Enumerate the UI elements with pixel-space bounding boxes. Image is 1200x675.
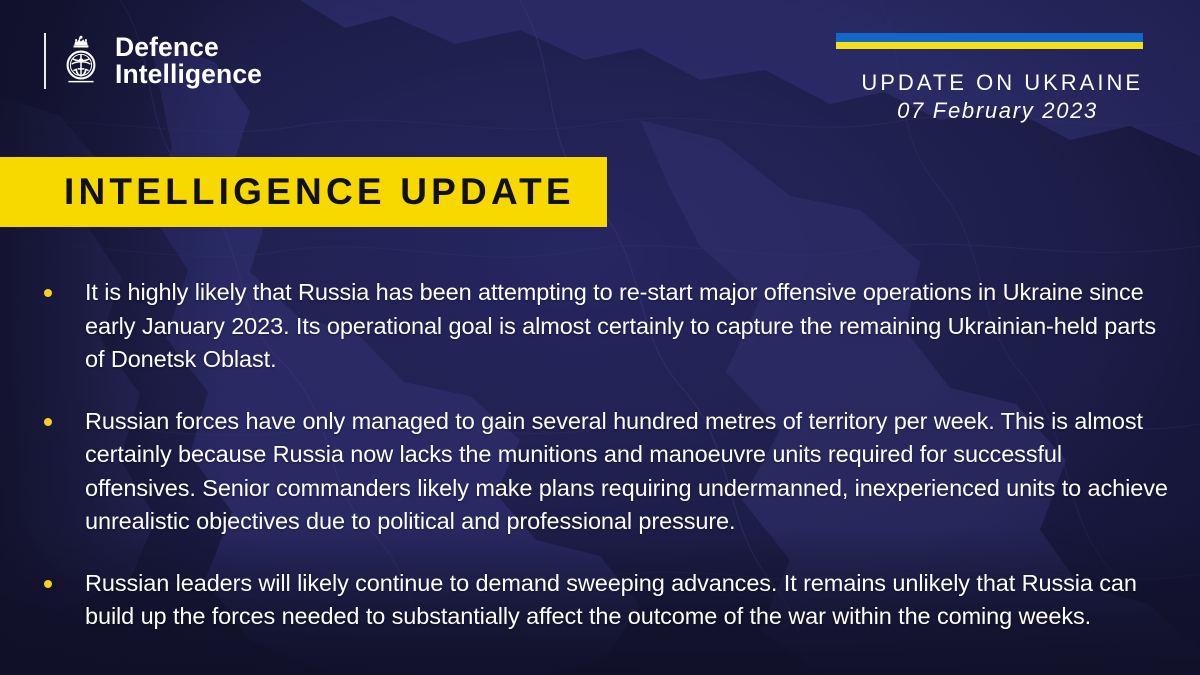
logo-line-2: Intelligence — [115, 61, 262, 88]
intelligence-update-poster: Defence Intelligence UPDATE ON UKRAINE 0… — [0, 0, 1200, 675]
defence-intelligence-logo: Defence Intelligence — [44, 32, 262, 90]
defence-intelligence-crest-icon — [60, 34, 102, 88]
bullet-text: Russian leaders will likely continue to … — [85, 567, 1168, 634]
ukraine-flag-bar-icon — [836, 33, 1143, 49]
bullet-item: Russian leaders will likely continue to … — [44, 567, 1168, 634]
logo-wordmark: Defence Intelligence — [115, 34, 262, 88]
bullet-text: It is highly likely that Russia has been… — [85, 276, 1168, 377]
banner-label: INTELLIGENCE UPDATE — [64, 172, 575, 212]
bullet-dot-icon — [44, 580, 52, 588]
update-date: 07 February 2023 — [836, 96, 1143, 126]
logo-divider-rule — [44, 33, 46, 89]
intelligence-update-banner: INTELLIGENCE UPDATE — [0, 157, 607, 227]
logo-line-1: Defence — [115, 34, 262, 61]
bullet-dot-icon — [44, 289, 52, 297]
flag-bar-blue-stripe — [836, 33, 1143, 42]
bullet-dot-icon — [44, 418, 52, 426]
header-right-block: UPDATE ON UKRAINE 07 February 2023 — [836, 33, 1143, 126]
bullet-list: It is highly likely that Russia has been… — [44, 276, 1168, 634]
flag-bar-yellow-stripe — [836, 42, 1143, 49]
bullet-item: Russian forces have only managed to gain… — [44, 405, 1168, 539]
update-title: UPDATE ON UKRAINE — [836, 70, 1143, 96]
bullet-text: Russian forces have only managed to gain… — [85, 405, 1168, 539]
bullet-item: It is highly likely that Russia has been… — [44, 276, 1168, 377]
